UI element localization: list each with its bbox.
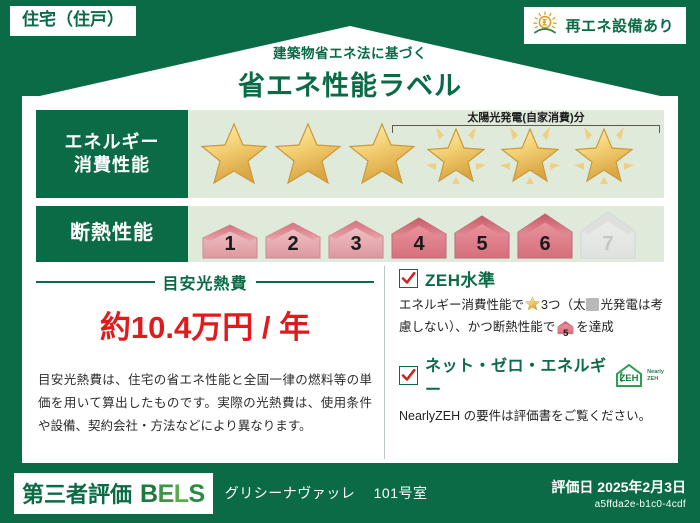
utility-cost-heading: 目安光熱費 (36, 270, 374, 294)
insulation-row-body: 1 2 3 (188, 206, 664, 262)
utility-cost-column: 目安光熱費 約10.4万円 / 年 目安光熱費は、住宅の省エネ性能と全国一律の燃… (36, 266, 384, 459)
zeh-logo: ZEH Nearly ZEH (614, 363, 664, 388)
energy-star-rating (188, 118, 640, 190)
insulation-level-scale: 1 2 3 (188, 209, 638, 260)
star-icon-solar (568, 118, 640, 190)
star-icon-solar (494, 118, 566, 190)
insulation-level-number: 5 (452, 233, 512, 256)
property-info: グリシーナヴァッレ 101号室 (225, 483, 428, 503)
title-subtitle: 建築物省エネ法に基づく (0, 42, 700, 62)
star-icon (198, 118, 270, 190)
insulation-level-badge: 2 (263, 220, 323, 260)
energy-label-line1: エネルギー (65, 131, 160, 154)
insulation-level-badge: 1 (200, 222, 260, 260)
insulation-level-badge: 3 (326, 218, 386, 260)
star-icon-solar (420, 118, 492, 190)
checkbox-checked-icon (399, 269, 418, 288)
redacted-character (586, 298, 599, 311)
inline-star-icon (525, 296, 540, 317)
utility-cost-heading-text: 目安光熱費 (163, 270, 248, 294)
nearly-zeh-line2: ZEH (647, 376, 658, 382)
insulation-row-label: 断熱性能 (36, 206, 188, 262)
insulation-level-badge: 6 (515, 211, 575, 260)
zeh-netzero-description: NearlyZEH の要件は評価書をご覧ください。 (399, 406, 664, 426)
zeh-desc-part2: 3つ（太 (541, 298, 585, 312)
page-title: 省エネ性能ラベル (0, 64, 700, 103)
zeh-netzero-block: ネット・ゼロ・エネルギー ZEH Nearly ZEH (399, 352, 664, 426)
footer-bar: 第三者評価 BELS グリシーナヴァッレ 101号室 評価日 2025年2月3日… (0, 463, 700, 523)
insulation-level-number: 6 (515, 233, 575, 256)
utility-cost-note: 目安光熱費は、住宅の省エネ性能と全国一律の燃料等の単価を用いて算出したものです。… (36, 369, 374, 438)
insulation-level-badge: 5 (452, 213, 512, 260)
heading-rule-left (36, 281, 155, 283)
nearly-zeh-line1: Nearly (647, 369, 664, 375)
bels-en-label: BELS (140, 480, 205, 509)
renewable-badge-label: 再エネ設備あり (565, 15, 674, 36)
renewable-equipment-badge: 再エネ設備あり (524, 7, 686, 44)
title-block: 建築物省エネ法に基づく 省エネ性能ラベル (0, 42, 700, 103)
solar-sun-icon (532, 11, 558, 40)
zeh-desc-part1: エネルギー消費性能で (399, 298, 524, 312)
zeh-netzero-heading: ネット・ゼロ・エネルギー ZEH Nearly ZEH (399, 352, 664, 400)
label-frame: 住宅（住戸） 再エネ設備あり (0, 0, 700, 523)
checkbox-checked-icon (399, 366, 418, 385)
star-icon (346, 118, 418, 190)
evaluation-info: 評価日 2025年2月3日 a5ffda2e-b1c0-4cdf (551, 477, 686, 510)
content-panel: エネルギー 消費性能 太陽光発電(自家消費)分 (22, 96, 678, 463)
building-type-tag: 住宅（住戸） (10, 6, 136, 36)
zeh-column: ZEH水準 エネルギー消費性能で3つ（太光発電は考慮しない）、かつ断熱性能で5を… (384, 266, 664, 459)
room-number: 101号室 (374, 485, 428, 501)
inline-insulation-badge: 5 (557, 320, 574, 341)
zeh-standard-block: ZEH水準 エネルギー消費性能で3つ（太光発電は考慮しない）、かつ断熱性能で5を… (399, 266, 664, 342)
inline-insulation-number: 5 (557, 326, 574, 341)
insulation-level-number: 2 (263, 233, 323, 256)
property-name: グリシーナヴァッレ (225, 485, 356, 501)
insulation-level-badge-inactive: 7 (578, 209, 638, 260)
zeh-desc-part4: を達成 (576, 320, 614, 334)
bels-certification-logo: 第三者評価 BELS (14, 473, 213, 514)
insulation-level-number: 7 (578, 233, 638, 256)
insulation-level-number: 4 (389, 233, 449, 256)
bels-jp-label: 第三者評価 (22, 477, 132, 509)
zeh-house-logo-icon: ZEH (614, 363, 644, 388)
utility-cost-value: 約10.4万円 / 年 (36, 302, 374, 347)
heading-rule-right (256, 281, 375, 283)
evaluation-id: a5ffda2e-b1c0-4cdf (551, 499, 686, 510)
energy-label-line2: 消費性能 (74, 154, 150, 177)
building-type-label: 住宅（住戸） (22, 10, 124, 29)
details-section: 目安光熱費 約10.4万円 / 年 目安光熱費は、住宅の省エネ性能と全国一律の燃… (36, 266, 664, 459)
performance-section: エネルギー 消費性能 太陽光発電(自家消費)分 (36, 110, 664, 270)
evaluation-date: 評価日 2025年2月3日 (551, 477, 686, 497)
insulation-level-number: 1 (200, 233, 260, 256)
insulation-performance-row: 断熱性能 (36, 206, 664, 262)
energy-row-body: 太陽光発電(自家消費)分 (188, 110, 664, 198)
star-icon (272, 118, 344, 190)
insulation-level-number: 3 (326, 233, 386, 256)
nearly-zeh-label: Nearly ZEH (647, 369, 664, 383)
insulation-label-text: 断熱性能 (70, 221, 154, 247)
insulation-level-badge: 4 (389, 215, 449, 260)
zeh-netzero-title: ネット・ゼロ・エネルギー (425, 352, 607, 400)
zeh-standard-title: ZEH水準 (425, 266, 496, 291)
zeh-standard-heading: ZEH水準 (399, 266, 664, 291)
zeh-logo-text: ZEH (620, 373, 639, 384)
energy-performance-row: エネルギー 消費性能 太陽光発電(自家消費)分 (36, 110, 664, 198)
energy-row-label: エネルギー 消費性能 (36, 110, 188, 198)
zeh-standard-description: エネルギー消費性能で3つ（太光発電は考慮しない）、かつ断熱性能で5を達成 (399, 295, 664, 342)
